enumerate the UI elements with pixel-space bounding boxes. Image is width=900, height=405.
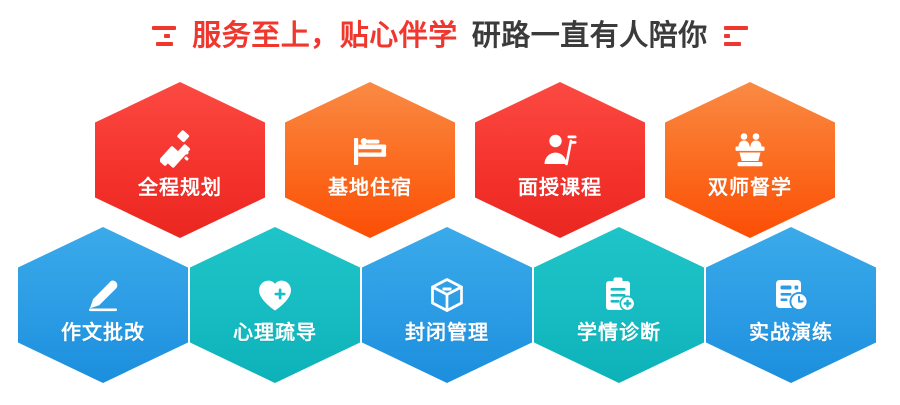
- title-rest-text: 研路一直有人陪你: [472, 22, 708, 51]
- pencil-ruler-icon: [158, 128, 202, 172]
- service-features-banner: 服务至上，贴心伴学 研路一直有人陪你 全程规划基地住宿面授课程双师督学作文批改心…: [0, 0, 900, 405]
- feature-label: 心理疏导: [233, 323, 317, 343]
- clipboard-plus-icon: [597, 273, 641, 317]
- document-clock-icon: [769, 273, 813, 317]
- feature-label: 实战演练: [749, 323, 833, 343]
- feature-label: 作文批改: [61, 323, 145, 343]
- feature-hex-grid: 全程规划基地住宿面授课程双师督学作文批改心理疏导封闭管理学情诊断实战演练: [0, 60, 900, 405]
- feature-label: 基地住宿: [328, 178, 412, 198]
- bed-icon: [348, 128, 392, 172]
- feature-label: 面授课程: [518, 178, 602, 198]
- feature-hex-学情诊断[interactable]: 学情诊断: [534, 227, 704, 383]
- feature-hex-面授课程[interactable]: 面授课程: [475, 82, 645, 238]
- feature-hex-实战演练[interactable]: 实战演练: [706, 227, 876, 383]
- teacher-pointer-icon: [538, 128, 582, 172]
- feature-hex-全程规划[interactable]: 全程规划: [95, 82, 265, 238]
- right-decoration-icon: [722, 23, 748, 49]
- feature-label: 学情诊断: [577, 323, 661, 343]
- feature-hex-基地住宿[interactable]: 基地住宿: [285, 82, 455, 238]
- pen-underline-icon: [81, 273, 125, 317]
- feature-hex-封闭管理[interactable]: 封闭管理: [362, 227, 532, 383]
- feature-hex-心理疏导[interactable]: 心理疏导: [190, 227, 360, 383]
- heart-plus-icon: [253, 273, 297, 317]
- feature-label: 封闭管理: [405, 323, 489, 343]
- podium-two-people-icon: [728, 128, 772, 172]
- title-highlight-text: 服务至上，贴心伴学: [192, 22, 458, 51]
- box-cube-icon: [425, 273, 469, 317]
- feature-hex-作文批改[interactable]: 作文批改: [18, 227, 188, 383]
- banner-title: 服务至上，贴心伴学 研路一直有人陪你: [0, 12, 900, 60]
- feature-label: 全程规划: [138, 178, 222, 198]
- left-decoration-icon: [152, 23, 178, 49]
- feature-hex-双师督学[interactable]: 双师督学: [665, 82, 835, 238]
- feature-label: 双师督学: [708, 178, 792, 198]
